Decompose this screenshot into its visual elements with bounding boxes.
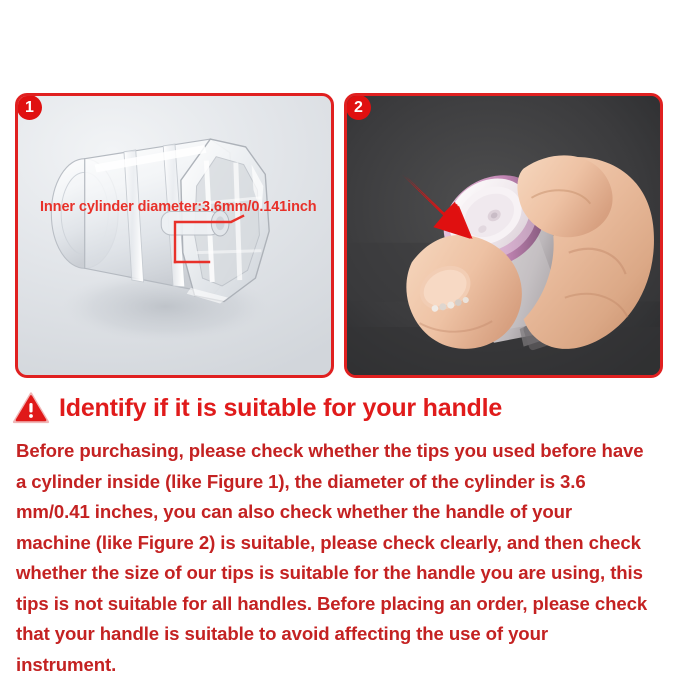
figures-row: Inner cylinder diameter:3.6mm/0.141inch … — [0, 0, 679, 385]
heading-row: Identify if it is suitable for your hand… — [12, 391, 672, 425]
inner-cylinder-pointer-bracket — [173, 214, 247, 274]
figure-2-panel: 2 — [344, 93, 663, 378]
figure-1-panel: Inner cylinder diameter:3.6mm/0.141inch … — [15, 93, 334, 378]
description-paragraph: Before purchasing, please check whether … — [16, 436, 648, 680]
inner-cylinder-annotation: Inner cylinder diameter:3.6mm/0.141inch — [40, 199, 317, 215]
figure-1-badge: 1 — [17, 95, 42, 120]
page-title: Identify if it is suitable for your hand… — [59, 394, 502, 423]
hand-holding-handle-photo — [347, 96, 660, 375]
warning-triangle-icon — [12, 391, 50, 425]
figure-2-badge: 2 — [346, 95, 371, 120]
